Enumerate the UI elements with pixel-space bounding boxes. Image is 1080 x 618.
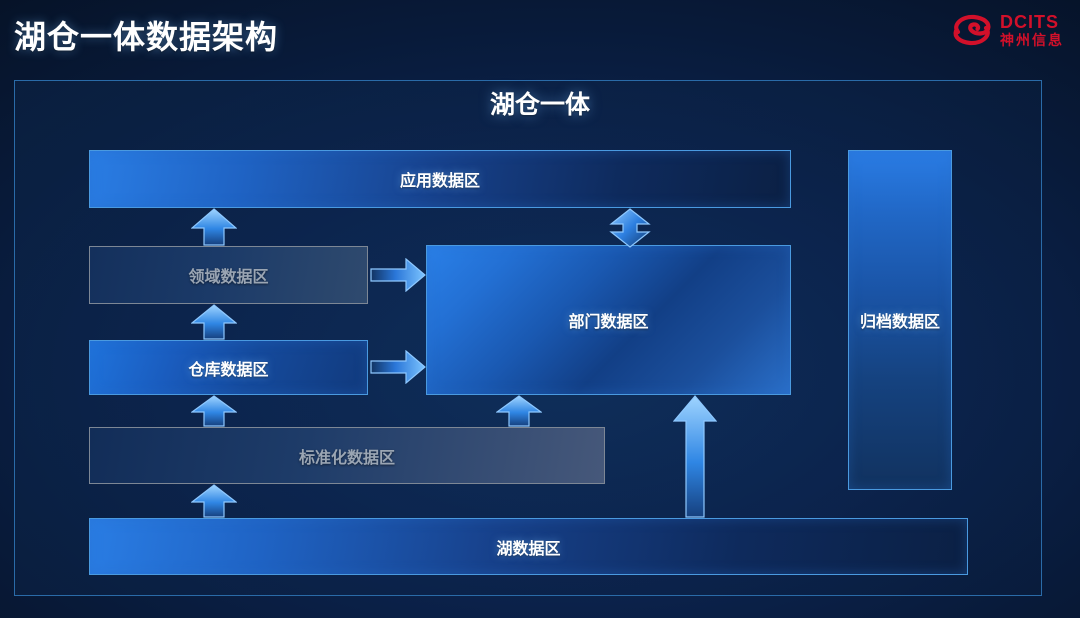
arrow-warehouse-to-domain-up-icon <box>191 304 237 340</box>
node-domain-data-zone[interactable]: 领域数据区 <box>89 246 368 304</box>
arrow-domain-to-app-up-icon <box>191 208 237 246</box>
node-app-data-zone[interactable]: 应用数据区 <box>89 150 791 208</box>
arrow-warehouse-to-dept-right-icon <box>370 350 426 384</box>
node-standard-data-zone[interactable]: 标准化数据区 <box>89 427 605 484</box>
node-label: 仓库数据区 <box>188 356 268 380</box>
node-label: 应用数据区 <box>400 167 480 191</box>
node-lake-data-zone[interactable]: 湖数据区 <box>89 518 968 575</box>
node-label: 归档数据区 <box>860 308 940 332</box>
arrow-standard-to-dept-up-icon <box>496 395 542 427</box>
diagram-title: 湖仓一体 <box>0 85 1080 121</box>
node-label: 湖数据区 <box>496 535 560 559</box>
logo-text-cn: 神州信息 <box>1000 33 1064 47</box>
dcits-logo: DCITS 神州信息 <box>950 8 1064 52</box>
node-warehouse-data-zone[interactable]: 仓库数据区 <box>89 340 368 395</box>
arrow-lake-to-dept-up-icon <box>673 395 717 518</box>
logo-text-en: DCITS <box>1000 13 1064 31</box>
page-title: 湖仓一体数据架构 <box>14 12 278 58</box>
arrow-domain-to-dept-right-icon <box>370 258 426 292</box>
dcits-swirl-icon <box>950 13 994 47</box>
arrow-standard-to-warehouse-up-icon <box>191 395 237 427</box>
node-label: 标准化数据区 <box>299 444 395 468</box>
node-archive-data-zone[interactable]: 归档数据区 <box>848 150 952 490</box>
node-label: 领域数据区 <box>188 263 268 287</box>
arrow-dept-to-app-bidirectional-icon <box>609 208 651 248</box>
logo-text: DCITS 神州信息 <box>1000 13 1064 47</box>
slide-canvas: 湖仓一体数据架构 DCITS 神州信息 湖仓一体 应用数据区 领域数据区 仓库数… <box>0 0 1080 618</box>
arrow-lake-to-standard-up-icon <box>191 484 237 518</box>
node-department-data-zone[interactable]: 部门数据区 <box>426 245 791 395</box>
node-label: 部门数据区 <box>568 308 648 332</box>
